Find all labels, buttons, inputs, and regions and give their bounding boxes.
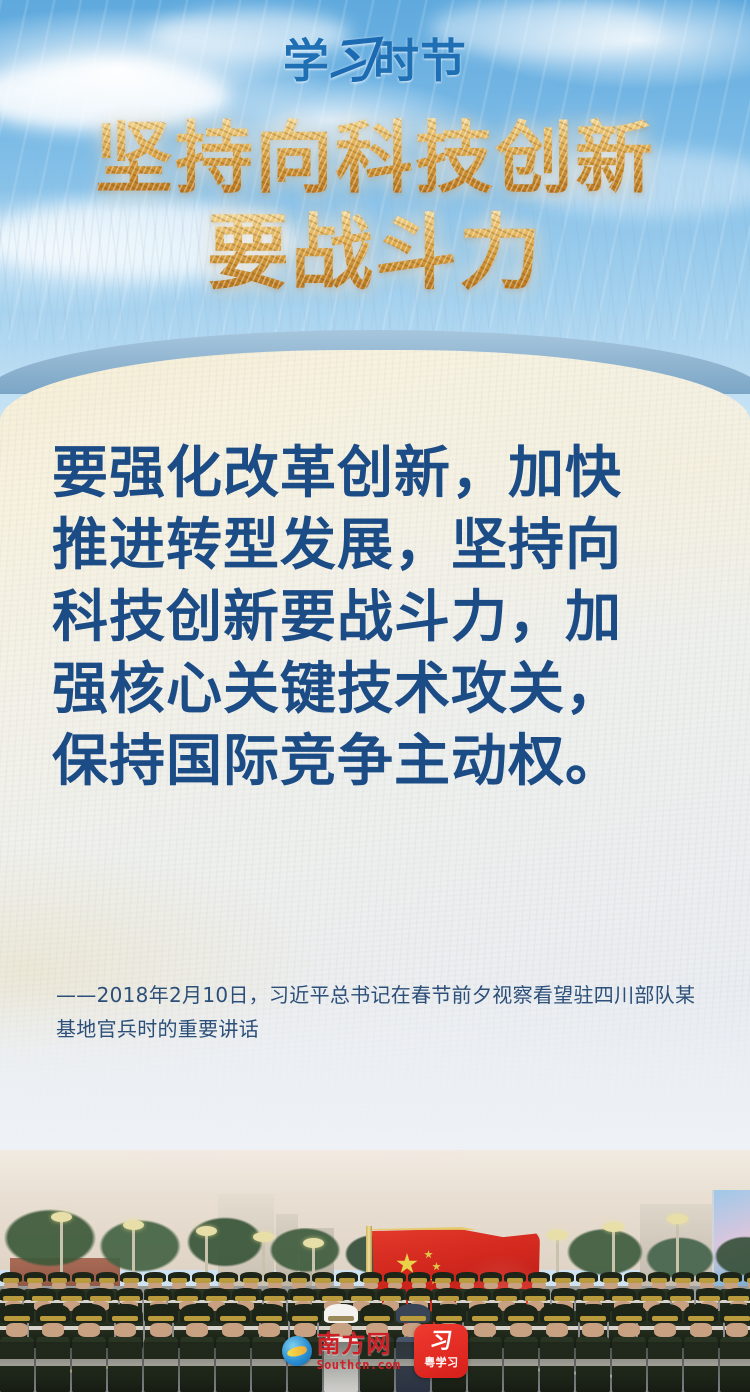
globe-icon — [282, 1336, 312, 1366]
quote-line: 要强化改革创新，加快 — [52, 438, 700, 510]
quote-line: 强核心关键技术攻关， — [52, 654, 700, 726]
header-brand-xi-char: 习 — [322, 23, 381, 99]
southcn-logo-cn: 南方网 — [317, 1332, 401, 1356]
quote-line: 保持国际竞争主动权。 — [52, 726, 700, 798]
yuexuexi-app-logo[interactable]: 习 粤学习 — [414, 1324, 468, 1378]
header-brand-suffix: 时节 — [373, 28, 467, 94]
yuexuexi-mark-icon: 习 — [429, 1332, 454, 1352]
header-brand-logo: 学习时节 — [0, 28, 750, 100]
southcn-logo[interactable]: 南方网 Southcn.com — [282, 1332, 401, 1371]
quote-attribution: ——2018年2月10日，习近平总书记在春节前夕视察看望驻四川部队某基地官兵时的… — [56, 978, 702, 1046]
title-line-2: 要战斗力 — [0, 206, 750, 302]
quote-line: 推进转型发展，坚持向 — [52, 510, 700, 582]
title-line-1: 坚持向科技创新 — [0, 112, 750, 206]
footer-logos: 南方网 Southcn.com 习 粤学习 — [0, 1324, 750, 1378]
poster-root: 学习时节 坚持向科技创新 要战斗力 要强化改革创新，加快 推进转型发展，坚持向 … — [0, 0, 750, 1392]
quote-line: 科技创新要战斗力，加 — [52, 582, 700, 654]
quote-text-block: 要强化改革创新，加快 推进转型发展，坚持向 科技创新要战斗力，加 强核心关键技术… — [52, 438, 700, 798]
yuexuexi-logo-label: 粤学习 — [424, 1354, 459, 1370]
poster-title: 坚持向科技创新 要战斗力 — [0, 112, 750, 302]
southcn-logo-en: Southcn.com — [317, 1359, 401, 1371]
